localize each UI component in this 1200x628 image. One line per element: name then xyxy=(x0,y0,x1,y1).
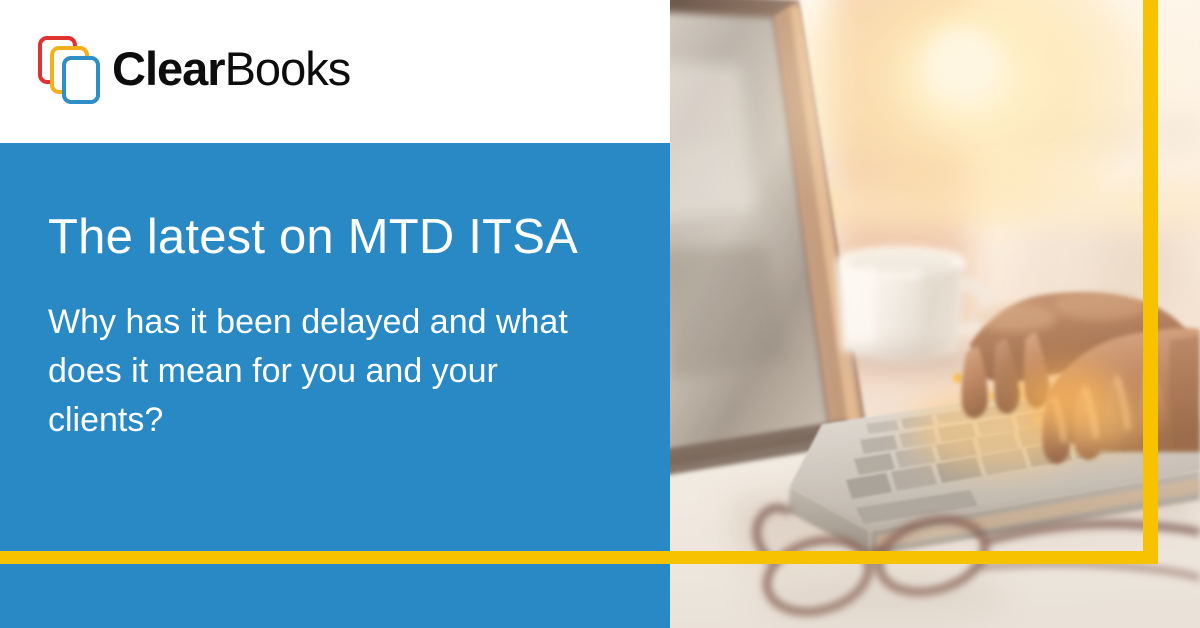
social-share-card: ClearBooks The latest on MTD ITSA Why ha… xyxy=(0,0,1200,628)
yellow-vertical-accent-rule xyxy=(1143,0,1158,564)
page-title: The latest on MTD ITSA xyxy=(48,211,628,264)
clearbooks-wordmark: ClearBooks xyxy=(112,45,350,96)
clearbooks-logo[interactable]: ClearBooks xyxy=(38,36,350,104)
page-subtitle: Why has it been delayed and what does it… xyxy=(48,298,593,445)
wordmark-clear: Clear xyxy=(112,42,225,95)
hero-photo-laptop-typing xyxy=(670,0,1200,628)
photo-illustration xyxy=(670,0,1200,628)
logo-card-blue-icon xyxy=(62,56,100,104)
clearbooks-stacked-cards-icon xyxy=(38,36,100,104)
yellow-horizontal-accent-rule xyxy=(0,551,1158,564)
header-band: ClearBooks xyxy=(0,0,670,143)
panel-text-block: The latest on MTD ITSA Why has it been d… xyxy=(48,211,628,445)
wordmark-books: Books xyxy=(225,42,351,95)
